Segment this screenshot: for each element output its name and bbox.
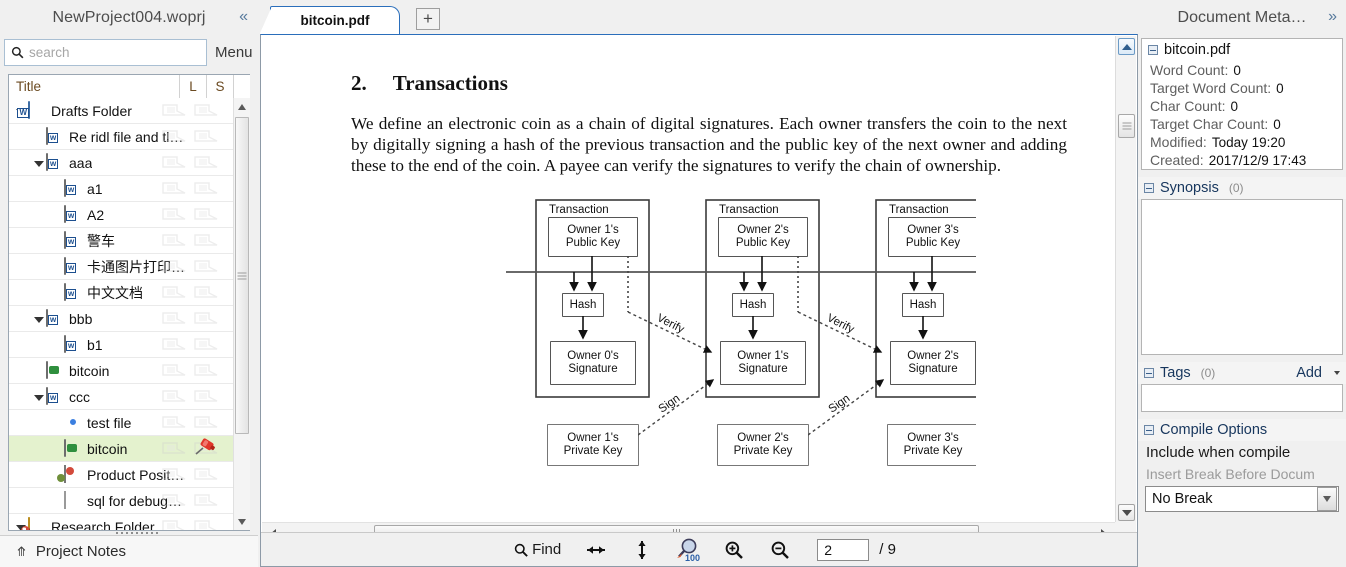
pin-watermark-icon [155,517,195,530]
meta-row-target-word-count: Target Word Count:0 [1142,79,1342,97]
binder-item-a2-4[interactable]: A2 [9,202,233,228]
image-icon [64,466,82,484]
meta-key: Created: [1150,152,1204,168]
pin-watermark-icon [155,309,195,329]
chevron-double-right-icon[interactable]: » [1328,9,1337,25]
pin-watermark-icon [155,335,195,355]
hash-box-1: Hash [563,294,603,316]
collapse-minus-icon[interactable] [1144,425,1154,435]
binder-item-a1-3[interactable]: a1 [9,176,233,202]
document-scrollbar-thumb[interactable] [1118,114,1135,138]
binder-item--6[interactable]: 卡通图片打印… [9,254,233,280]
new-tab-button[interactable]: + [416,8,440,30]
public-key-box-2: Owner 2's Public Key [719,218,807,256]
pin-watermark-icon [187,153,227,173]
word-doc-icon [46,154,64,172]
word-doc-icon [64,284,82,302]
document-scroll-down-icon[interactable] [1118,504,1135,521]
meta-value: 0 [1233,63,1241,78]
meta-key: Target Word Count: [1150,80,1271,96]
pin-watermark-icon [187,413,227,433]
pdf-page-content: 2. Transactions We define an electronic … [351,71,1088,477]
binder-item-research-folder-16[interactable]: Research Folder [9,514,233,530]
document-scroll-up-icon[interactable] [1118,38,1135,55]
scroll-down-arrow-icon[interactable] [234,513,250,530]
pdf-page: 2. Transactions We define an electronic … [267,41,1098,506]
binder-item-bbb-8[interactable]: bbb [9,306,233,332]
pin-watermark-icon [155,205,195,225]
column-header-s[interactable]: S [207,75,234,98]
zoom-out-button[interactable] [757,535,803,565]
pin-watermark-icon [155,179,195,199]
pin-watermark-icon [187,101,227,121]
twisty-spacer [33,365,45,377]
binder-item-label: A2 [87,207,104,223]
meta-row-word-count: Word Count:0 [1142,61,1342,79]
fit-height-icon [635,538,649,562]
zoom-in-icon [724,540,744,560]
twisty-spacer [51,287,63,299]
binder-item--7[interactable]: 中文文档 [9,280,233,306]
pin-watermark-icon [155,101,195,121]
synopsis-title: Synopsis [1160,180,1219,196]
binder-item-label: 卡通图片打印… [87,257,185,277]
zoom-out-icon [770,540,790,560]
synopsis-textarea[interactable] [1141,199,1343,355]
project-title: NewProject004.woprj [52,9,205,27]
twisty-spacer [51,235,63,247]
binder-item-label: ccc [69,389,90,405]
column-header-pad [234,75,250,98]
signature-box-3: Owner 2's Signature [891,342,975,384]
column-header-l[interactable]: L [180,75,207,98]
binder-menu-label: Menu [215,44,253,61]
meta-file-header[interactable]: bitcoin.pdf [1142,39,1342,61]
project-notes-label: Project Notes [36,543,126,560]
binder-item-re-ridl-file-and-tl-1[interactable]: Re ridl file and tl… [9,124,233,150]
binder-item-label: 中文文档 [87,283,143,303]
pin-watermark-icon [187,283,227,303]
twisty-open-icon[interactable] [33,313,45,325]
binder-scrollbar-thumb[interactable] [235,117,249,434]
meta-row-char-count: Char Count:0 [1142,97,1342,115]
binder-item-label: b1 [87,337,103,353]
meta-key: Modified: [1150,134,1207,150]
collapse-minus-icon[interactable] [1144,368,1154,378]
search-icon [514,543,528,557]
word-doc-icon [46,128,64,146]
signature-box-2: Owner 1's Signature [721,342,805,384]
binder-item-aaa-2[interactable]: aaa [9,150,233,176]
public-key-box-3: Owner 3's Public Key [889,218,977,256]
tags-list[interactable] [1141,384,1343,412]
private-key-box-3: Owner 3's Private Key [888,425,978,465]
public-key-box-1: Owner 1's Public Key [549,218,637,256]
include-when-compile-option[interactable]: Include when compile [1138,441,1346,464]
compile-options-header[interactable]: Compile Options [1138,419,1346,441]
binder-column-headers: Title L S [9,75,250,99]
twisty-open-icon[interactable] [33,157,45,169]
chevron-down-icon[interactable] [1334,371,1340,375]
binder-item-sql-for-debug-15[interactable]: sql for debug… [9,488,233,514]
tab-bar: bitcoin.pdf + [258,0,1138,34]
binder-tree-body[interactable]: Drafts FolderRe ridl file and tl…aaaa1A2… [9,98,233,530]
twisty-spacer [51,443,63,455]
binder-item-label: Drafts Folder [51,103,132,119]
pin-watermark-icon [187,491,227,511]
meta-key: Target Char Count: [1150,116,1268,132]
zoom-100-icon: 100 [673,537,703,563]
fit-width-icon [583,543,609,557]
twisty-open-icon[interactable] [33,391,45,403]
folder-icon [28,518,46,531]
binder-item-label: a1 [87,181,103,197]
tab-bitcoin-pdf[interactable]: bitcoin.pdf [270,6,400,34]
pdf-icon [64,440,82,458]
column-header-title[interactable]: Title [9,75,180,98]
binder-item-test-file-12[interactable]: test file [9,410,233,436]
word-doc-icon [46,310,64,328]
meta-row-created: Created:2017/12/9 17:43 [1142,151,1342,169]
document-scrollbar-vertical[interactable] [1115,36,1136,523]
transaction-chain-diagram: Transaction Transaction Transaction Owne… [506,192,976,477]
fit-width-button[interactable] [573,535,619,565]
search-input[interactable] [29,45,206,60]
tags-header[interactable]: Tags (0) Add [1138,362,1346,384]
word-doc-icon [46,388,64,406]
collapse-minus-icon[interactable] [1148,45,1158,55]
twisty-spacer [33,131,45,143]
scroll-up-arrow-icon[interactable] [234,98,250,115]
svg-text:100: 100 [685,553,700,563]
pin-watermark-icon [187,205,227,225]
private-key-box-1: Owner 1's Private Key [548,425,638,465]
text-file-icon [64,492,82,510]
word-doc-icon [64,336,82,354]
pin-watermark-icon [155,439,195,459]
meta-value: 0 [1230,99,1238,114]
document-viewer: 2. Transactions We define an electronic … [260,34,1138,567]
collapse-minus-icon[interactable] [1144,183,1154,193]
section-heading: 2. Transactions [351,71,1088,96]
word-doc-icon [64,258,82,276]
signature-box-1: Owner 0's Signature [551,342,635,384]
meta-value: 0 [1276,81,1284,96]
pdf-toolbar: Find [261,532,1137,566]
section-paragraph: We define an electronic coin as a chain … [351,113,1067,176]
tags-add-button[interactable]: Add [1296,365,1322,381]
find-label: Find [532,541,561,558]
pin-watermark-icon [155,413,195,433]
hash-box-3: Hash [903,294,943,316]
binder-panel: NewProject004.woprj « Menu Title L S [0,0,258,567]
pin-watermark-icon [155,231,195,251]
pin-watermark-icon [187,387,227,407]
private-key-box-2: Owner 2's Private Key [718,425,808,465]
binder-item-b1-9[interactable]: b1 [9,332,233,358]
break-type-select[interactable]: No Break [1145,486,1339,512]
pin-watermark-icon [155,283,195,303]
word-book-icon [28,102,46,120]
binder-item-label: bitcoin [87,441,127,457]
tags-count: (0) [1201,366,1216,380]
scrivener-like-app-window: NewProject004.woprj « Menu Title L S [0,0,1346,567]
compile-options-title: Compile Options [1160,422,1267,438]
binder-item-product-posit-14[interactable]: Product Posit… [9,462,233,488]
search-icon [5,46,29,59]
chevron-double-left-icon[interactable]: « [239,9,248,25]
twisty-spacer [51,417,63,429]
binder-scrollbar-vertical[interactable] [233,98,250,530]
binder-item-ccc-11[interactable]: ccc [9,384,233,410]
search-box[interactable] [4,39,207,66]
word-doc-icon [64,206,82,224]
find-button[interactable]: Find [502,535,573,565]
hash-box-2: Hash [733,294,773,316]
pin-watermark-icon [187,179,227,199]
binder-item-label: bitcoin [69,363,109,379]
section-number: 2. [351,71,367,96]
binder-item-label: Re ridl file and tl… [69,129,183,145]
insert-break-label: Insert Break Before Docum [1138,464,1346,486]
transaction-label-2: Transaction [719,204,779,216]
pin-watermark-icon [187,439,227,459]
binder-item-bitcoin-10[interactable]: bitcoin [9,358,233,384]
twisty-spacer [51,495,63,507]
meta-value: 2017/12/9 17:43 [1209,153,1307,168]
meta-row-target-char-count: Target Char Count:0 [1142,115,1342,133]
binder-title-bar: NewProject004.woprj « [0,0,258,36]
binder-item-bitcoin-13[interactable]: bitcoin [9,436,233,462]
transaction-label-3: Transaction [889,204,949,216]
meta-value: 0 [1273,117,1281,132]
meta-row-modified: Modified:Today 19:20 [1142,133,1342,151]
pin-watermark-icon [155,153,195,173]
pdf-icon [46,362,64,380]
pin-watermark-icon [155,387,195,407]
pin-watermark-icon [187,257,227,277]
twisty-spacer [51,209,63,221]
word-doc-icon [64,232,82,250]
red-pin-icon [193,437,217,459]
inspector-panel: Document Meta… » bitcoin.pdf Word Count:… [1138,0,1346,567]
chevron-double-up-icon: ⤊ [16,544,27,560]
twisty-spacer [51,183,63,195]
pin-watermark-icon [187,517,227,530]
pin-watermark-icon [187,465,227,485]
binder-tree: Title L S Drafts FolderRe ridl file and … [8,74,250,531]
binder-item-label: sql for debug… [87,493,182,509]
section-title: Transactions [393,71,508,96]
document-meta-card: bitcoin.pdf Word Count:0Target Word Coun… [1141,38,1343,170]
synopsis-header[interactable]: Synopsis (0) [1138,177,1346,199]
inspector-title-bar: Document Meta… » [1138,0,1346,36]
word-doc-icon [64,180,82,198]
editor-panel: bitcoin.pdf + 2. Transactions We define … [258,0,1138,567]
meta-rows: Word Count:0Target Word Count:0Char Coun… [1142,61,1342,169]
meta-key: Word Count: [1150,62,1228,78]
pin-watermark-icon [187,309,227,329]
pin-watermark-icon [187,361,227,381]
binder-item--5[interactable]: 警车 [9,228,233,254]
chrome-icon [64,414,82,432]
transaction-label-1: Transaction [549,204,609,216]
inspector-title: Document Meta… [1178,9,1307,27]
binder-item-label: Research Folder [51,519,155,531]
pin-watermark-icon [187,231,227,251]
binder-item-label: bbb [69,311,92,327]
page-number-input[interactable]: 2 [817,539,869,561]
binder-item-label: Product Posit… [87,467,184,483]
binder-item-label: aaa [69,155,92,171]
twisty-spacer [51,339,63,351]
meta-file-name: bitcoin.pdf [1164,42,1230,58]
zoom-in-button[interactable] [711,535,757,565]
meta-key: Char Count: [1150,98,1225,114]
break-type-value: No Break [1146,491,1317,507]
zoom-100-button[interactable]: 100 [665,535,711,565]
page-total-label: / 9 [879,541,896,558]
meta-value: Today 19:20 [1212,135,1286,150]
binder-item-drafts-folder-0[interactable]: Drafts Folder [9,98,233,124]
tags-title: Tags [1160,365,1191,381]
chevron-down-icon[interactable] [1317,487,1337,511]
pin-watermark-icon [155,361,195,381]
binder-search-row: Menu [0,36,258,68]
binder-item-label: test file [87,415,131,431]
twisty-spacer [51,261,63,273]
pin-watermark-icon [187,127,227,147]
pin-watermark-icon [187,335,227,355]
binder-item-label: 警车 [87,231,115,251]
project-notes-bar[interactable]: ⤊ Project Notes [0,535,258,567]
synopsis-count: (0) [1229,181,1244,195]
fit-height-button[interactable] [619,535,665,565]
